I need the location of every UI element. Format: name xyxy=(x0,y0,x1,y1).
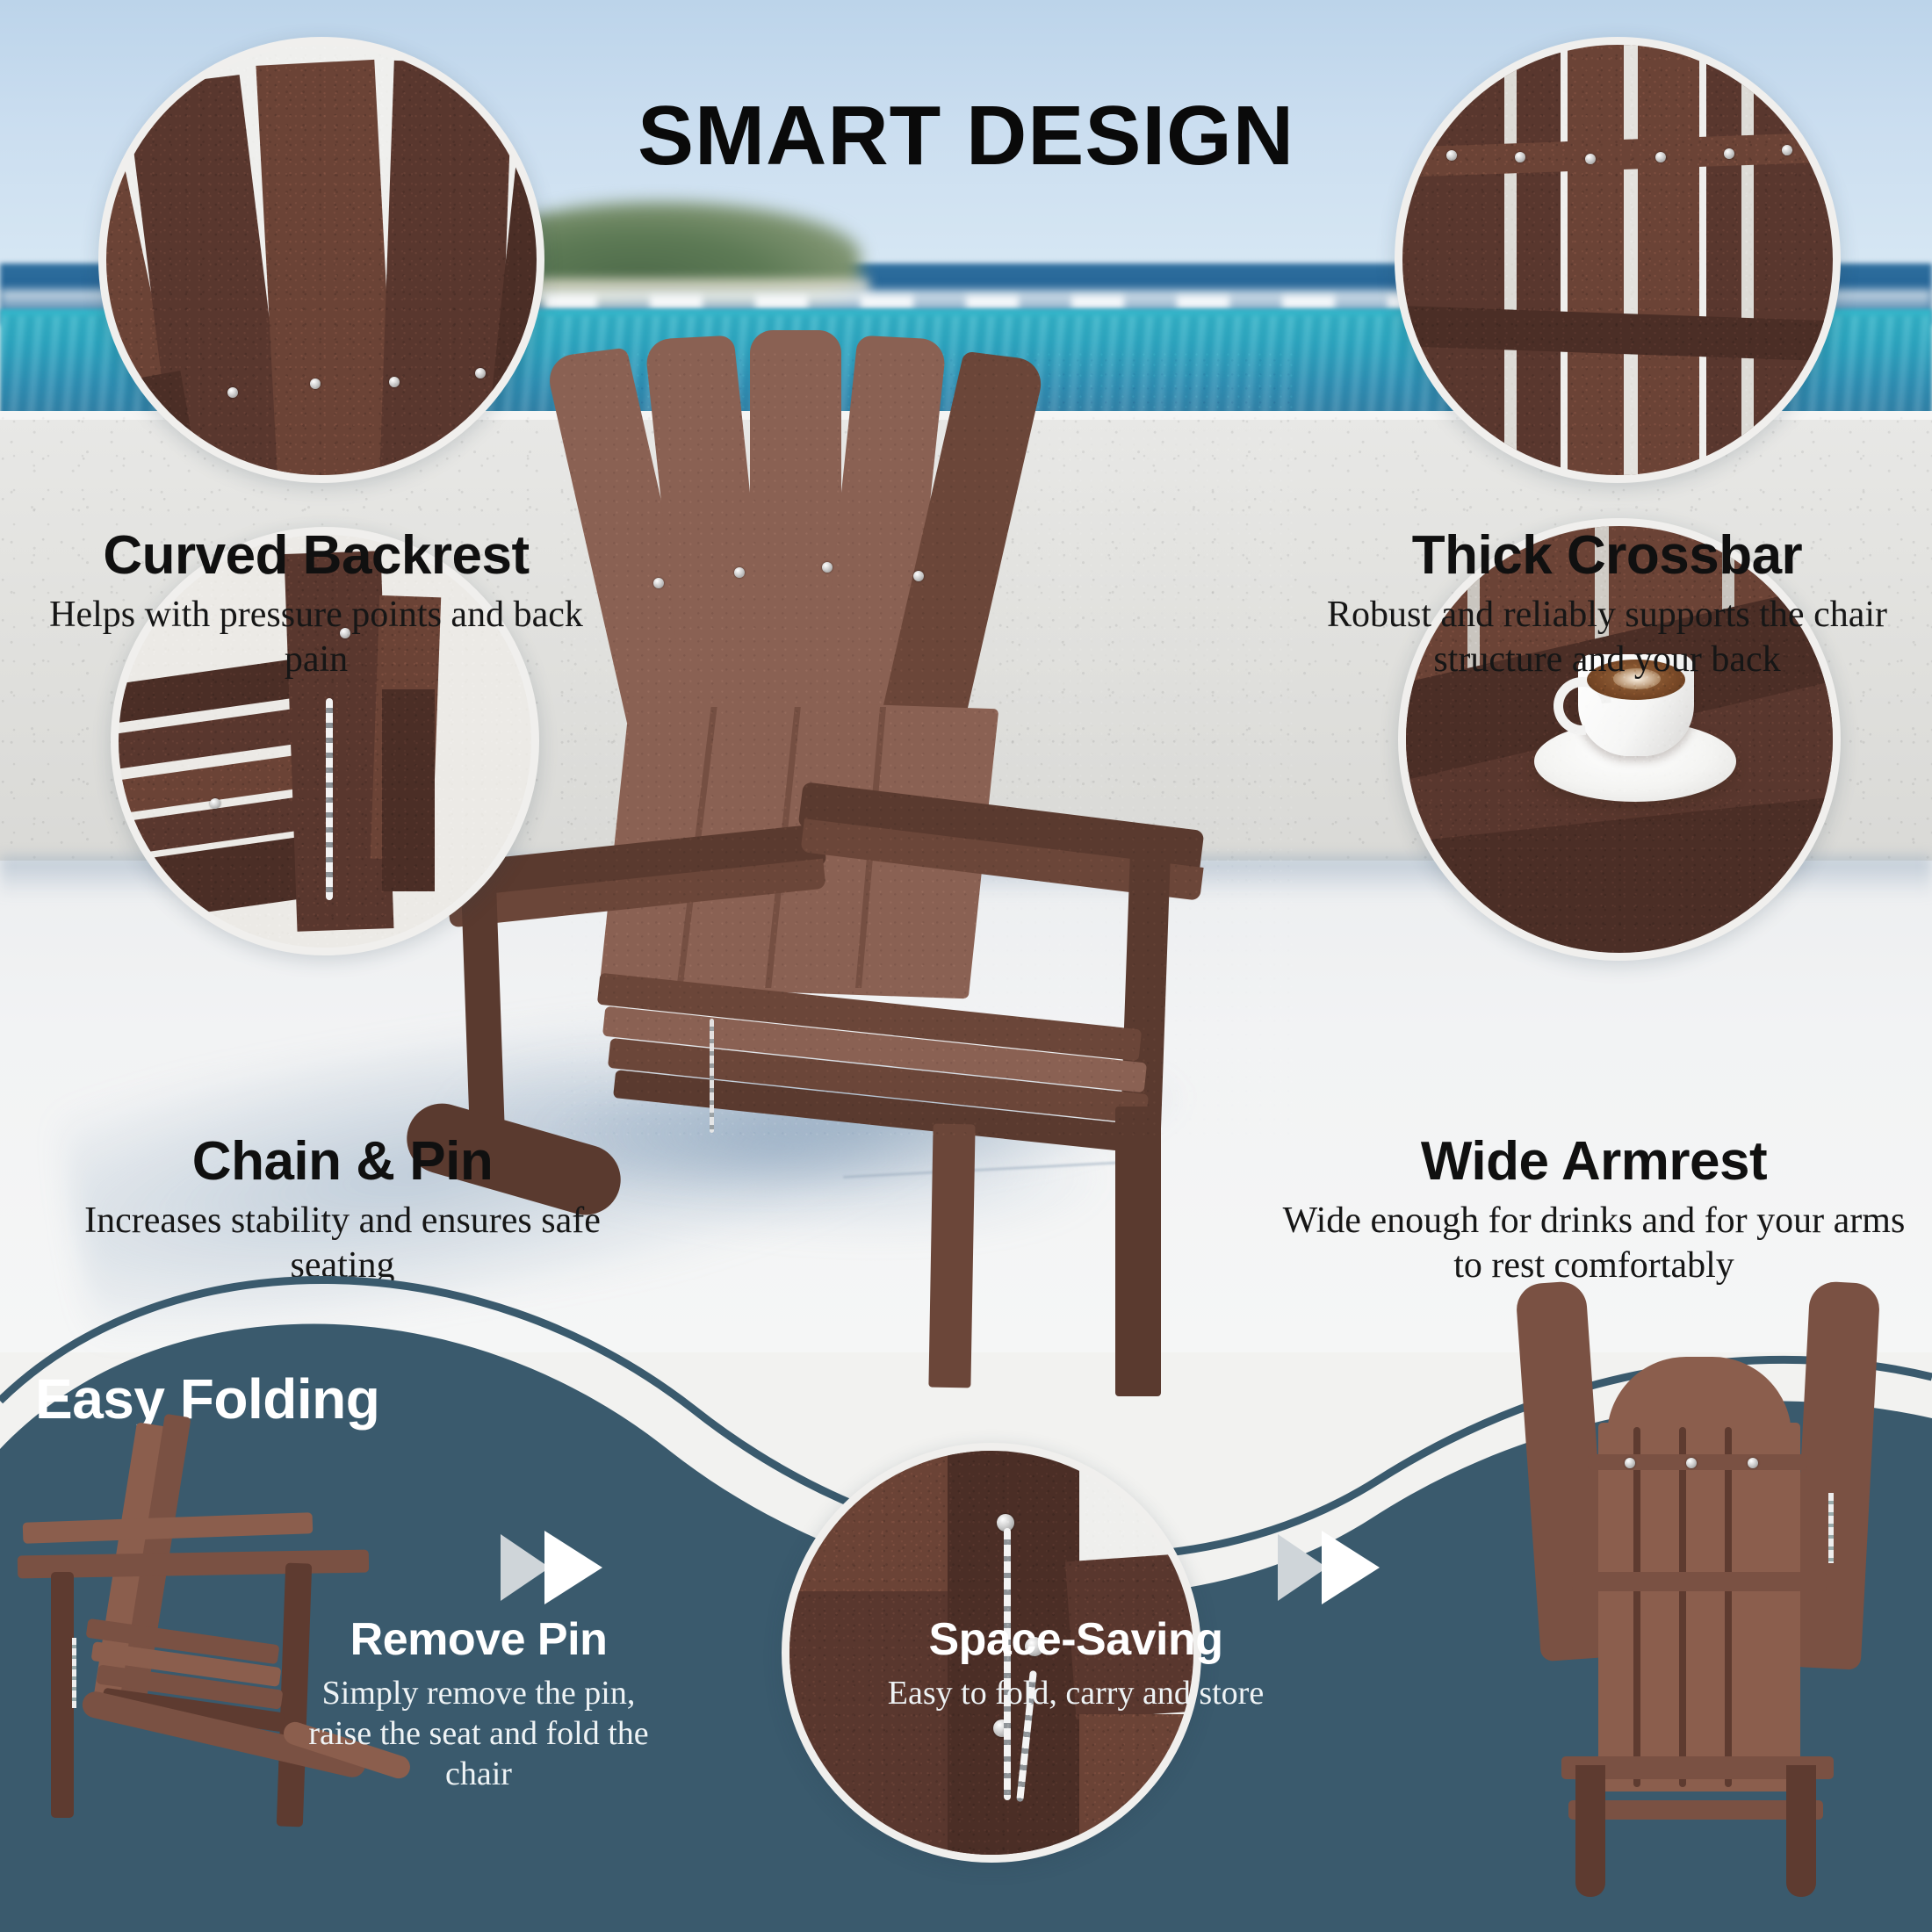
main-adirondack-chair-image xyxy=(562,351,1300,1142)
double-right-arrow-icon-1 xyxy=(501,1532,632,1603)
folding-step-remove-pin: Remove Pin Simply remove the pin, raise … xyxy=(303,1616,654,1795)
folding-step-3-folded-chair-illustration xyxy=(1484,1282,1932,1914)
feature-thick-crossbar: Thick Crossbar Robust and reliably suppo… xyxy=(1300,527,1914,683)
breaking-waves xyxy=(544,295,1510,309)
inset-thick-crossbar xyxy=(1395,37,1841,483)
step-description: Simply remove the pin, raise the seat an… xyxy=(303,1673,654,1795)
step-title: Space-Saving xyxy=(865,1616,1287,1664)
folding-step-space-saving: Space-Saving Easy to fold, carry and sto… xyxy=(865,1616,1287,1713)
feature-title: Thick Crossbar xyxy=(1300,527,1914,584)
double-right-arrow-icon-2 xyxy=(1278,1532,1409,1603)
feature-title: Chain & Pin xyxy=(70,1133,615,1190)
feature-description: Helps with pressure points and back pain xyxy=(35,593,597,682)
feature-title: Curved Backrest xyxy=(35,527,597,584)
feature-curved-backrest: Curved Backrest Helps with pressure poin… xyxy=(35,527,597,683)
inset-curved-backrest xyxy=(98,37,544,483)
step-description: Easy to fold, carry and store xyxy=(865,1673,1287,1713)
feature-description: Robust and reliably supports the chair s… xyxy=(1300,593,1914,682)
feature-title: Wide Armrest xyxy=(1273,1133,1914,1190)
infographic-canvas: SMART DESIGN xyxy=(0,0,1932,1932)
step-title: Remove Pin xyxy=(303,1616,654,1664)
